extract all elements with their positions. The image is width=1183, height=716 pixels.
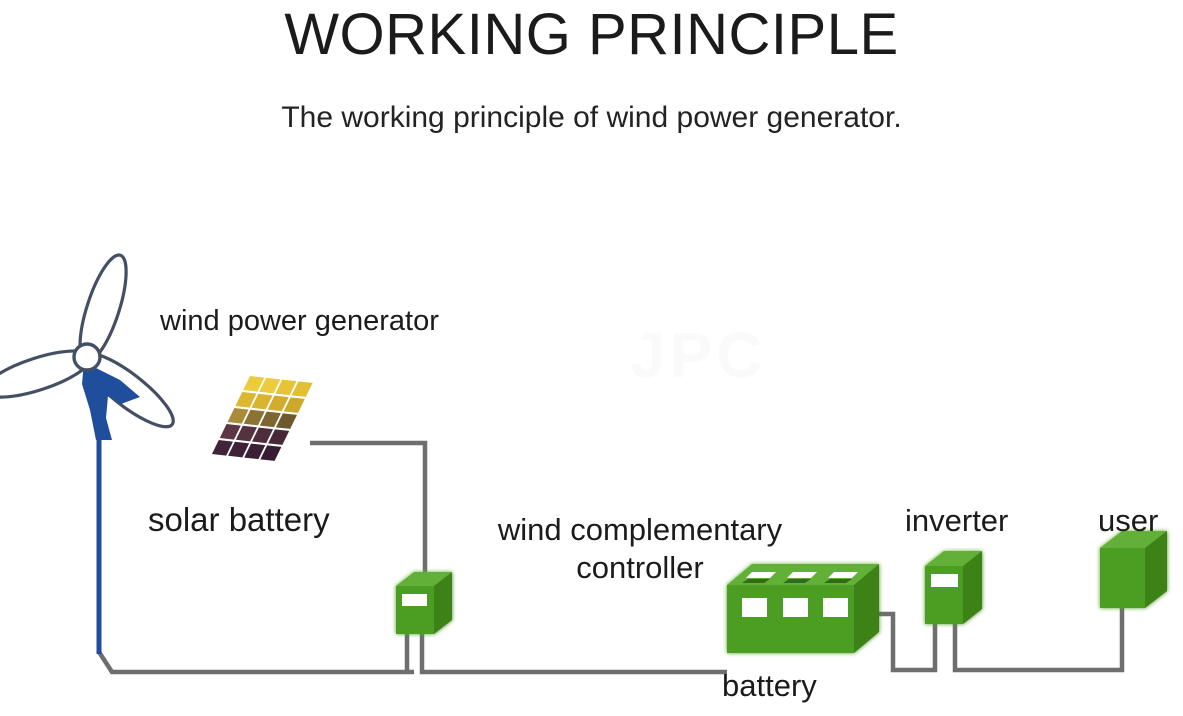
inverter-display	[931, 574, 958, 587]
turbine-hub	[74, 344, 100, 370]
solar-panel	[212, 376, 313, 461]
battery-terminal-1	[742, 598, 767, 617]
controller-display	[402, 594, 427, 606]
pv-cells	[212, 376, 313, 461]
label-wind-power-generator: wind power generator	[160, 303, 439, 339]
label-wind-complementary-controller: wind complementary controller	[430, 511, 850, 587]
controller-front	[396, 586, 434, 634]
wind-turbine	[0, 250, 182, 654]
label-solar-battery: solar battery	[148, 502, 330, 538]
diagram-canvas: WORKING PRINCIPLE The working principle …	[0, 0, 1183, 716]
system-diagram	[0, 0, 1183, 716]
label-inverter: inverter	[905, 503, 1008, 539]
battery-terminal-2	[783, 598, 808, 617]
label-user: user	[1098, 503, 1158, 539]
wire-controller-to-battery	[422, 634, 727, 672]
wire-inverter-to-user	[955, 608, 1122, 670]
user-box	[1100, 531, 1167, 608]
battery-front	[727, 585, 854, 653]
label-battery: battery	[722, 668, 817, 704]
wire-turbine-to-bus	[99, 652, 414, 672]
inverter-box	[925, 551, 982, 624]
battery-terminal-3	[823, 598, 848, 617]
user-front	[1100, 548, 1145, 608]
